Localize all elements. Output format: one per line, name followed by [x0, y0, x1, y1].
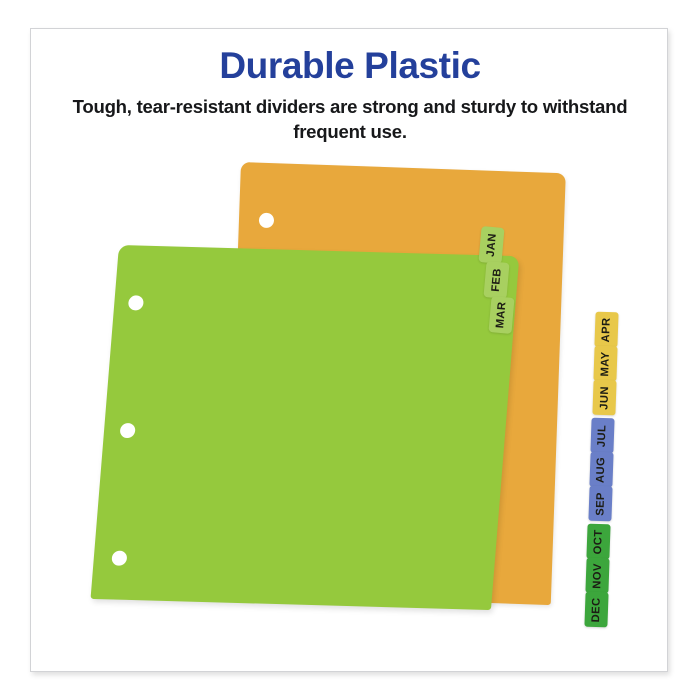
tab-mar: MAR	[488, 296, 514, 334]
tab-label: NOV	[591, 563, 604, 589]
punch-hole	[259, 213, 275, 229]
tab-apr: APR	[594, 312, 618, 348]
tab-oct: OCT	[586, 524, 610, 560]
punch-hole	[111, 551, 127, 566]
tab-jun: JUN	[592, 380, 616, 416]
product-photo: JAN FEB MAR APR MAY JUN	[31, 29, 669, 673]
punch-hole	[128, 295, 144, 310]
tab-label: FEB	[490, 268, 504, 293]
tab-label: MAY	[599, 351, 612, 376]
tab-aug: AUG	[589, 452, 613, 488]
tab-label: APR	[600, 317, 613, 342]
tab-nov: NOV	[585, 558, 609, 594]
punch-hole	[120, 423, 136, 438]
tab-label: JUL	[596, 424, 609, 447]
green-divider-sheet	[91, 245, 520, 610]
tab-label: AUG	[595, 456, 608, 482]
tab-label: JUN	[598, 386, 611, 410]
tab-label: DEC	[590, 597, 603, 622]
tab-sep: SEP	[588, 486, 612, 522]
tab-label: JAN	[484, 233, 498, 258]
tab-label: MAR	[494, 301, 508, 329]
tab-label: SEP	[594, 492, 607, 516]
tab-feb: FEB	[483, 261, 509, 299]
product-marketing-image: Durable Plastic Tough, tear-resistant di…	[0, 0, 700, 700]
framed-card: Durable Plastic Tough, tear-resistant di…	[30, 28, 668, 672]
tab-may: MAY	[593, 346, 617, 382]
tab-label: OCT	[592, 529, 605, 554]
tab-dec: DEC	[584, 592, 608, 628]
tab-jul: JUL	[590, 418, 614, 454]
tab-jan: JAN	[478, 226, 504, 264]
